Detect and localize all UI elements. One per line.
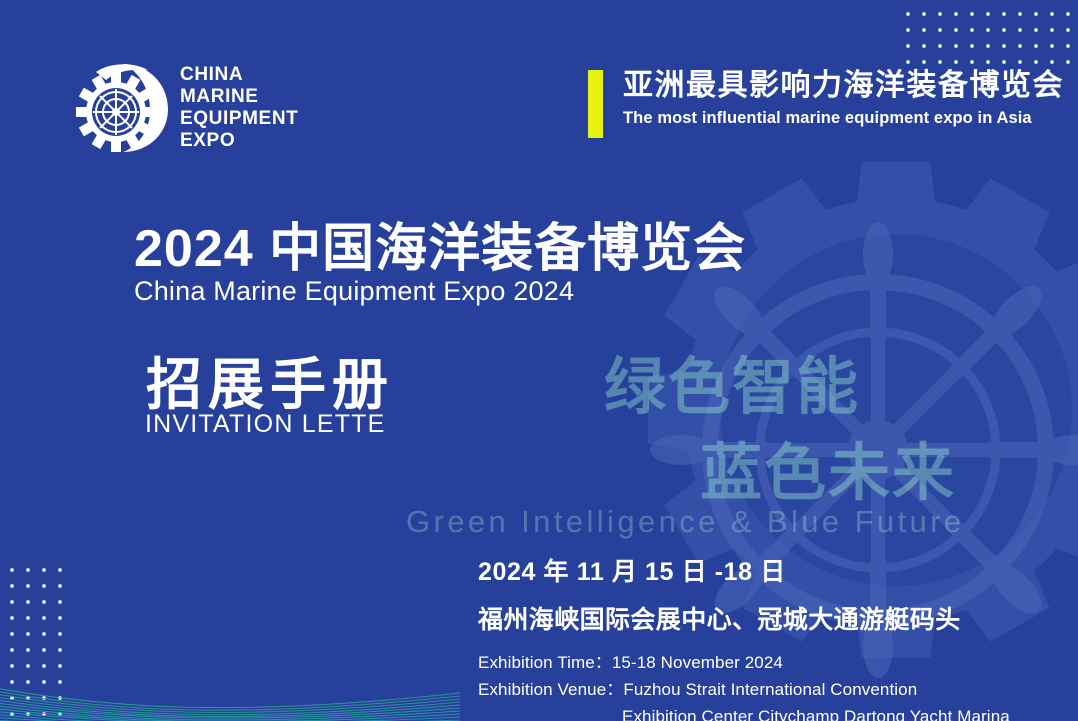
logo-line-4: EXPO [180, 130, 298, 152]
exhibition-time-label: Exhibition Time： [478, 653, 612, 672]
slogan-line-1: 绿色智能 [604, 336, 860, 426]
slogan-line-2: 蓝色未来 [700, 422, 956, 512]
exhibition-time-row: Exhibition Time：15-18 November 2024 [478, 650, 1038, 677]
page-subtitle-chinese: 招展手册 [146, 340, 394, 421]
exhibition-venue-label: Exhibition Venue： [478, 680, 623, 699]
accent-bar [588, 70, 603, 138]
wave-lines-bottom-left [0, 657, 460, 721]
tagline-block: 亚洲最具影响力海洋装备博览会 The most influential mari… [588, 70, 1064, 138]
logo-line-2: MARINE [180, 86, 298, 108]
dot-grid-bottom-left [10, 568, 64, 721]
tagline-english: The most influential marine equipment ex… [623, 109, 1064, 128]
slogan-watermark: 绿色智能 蓝色未来 Green Intelligence & Blue Futu… [596, 336, 1078, 536]
exhibition-venue-row: Exhibition Venue：Fuzhou Strait Internati… [478, 677, 1038, 704]
page-title-chinese: 2024 中国海洋装备博览会 [134, 206, 746, 281]
exhibition-time-value: 15-18 November 2024 [612, 653, 783, 672]
dot-grid-top-right [906, 0, 1078, 68]
event-venue-chinese: 福州海峡国际会展中心、冠城大通游艇码头 [478, 600, 1038, 636]
slogan-english: Green Intelligence & Blue Future [406, 504, 965, 540]
logo-wordmark: CHINA MARINE EQUIPMENT EXPO [180, 64, 298, 153]
event-info-block: 2024 年 11 月 15 日 -18 日 福州海峡国际会展中心、冠城大通游艇… [478, 552, 1038, 721]
event-date-chinese: 2024 年 11 月 15 日 -18 日 [478, 552, 1038, 588]
exhibition-venue-value-line1: Fuzhou Strait International Convention [623, 680, 917, 699]
logo-line-1: CHINA [180, 64, 298, 86]
page-title-english: China Marine Equipment Expo 2024 [134, 276, 574, 307]
page-subtitle-english: INVITATION LETTE [145, 410, 386, 439]
logo-line-3: EQUIPMENT [180, 108, 298, 130]
poster-canvas: CHINA MARINE EQUIPMENT EXPO 亚洲最具影响力海洋装备博… [0, 0, 1078, 721]
gear-ship-wheel-globe-icon [76, 60, 172, 156]
event-info-english: Exhibition Time：15-18 November 2024 Exhi… [478, 650, 1038, 721]
tagline-chinese: 亚洲最具影响力海洋装备博览会 [623, 70, 1064, 102]
exhibition-venue-value-line2: Exhibition Center Citychamp Dartong Yach… [478, 704, 1038, 721]
brand-logo: CHINA MARINE EQUIPMENT EXPO [76, 58, 346, 158]
